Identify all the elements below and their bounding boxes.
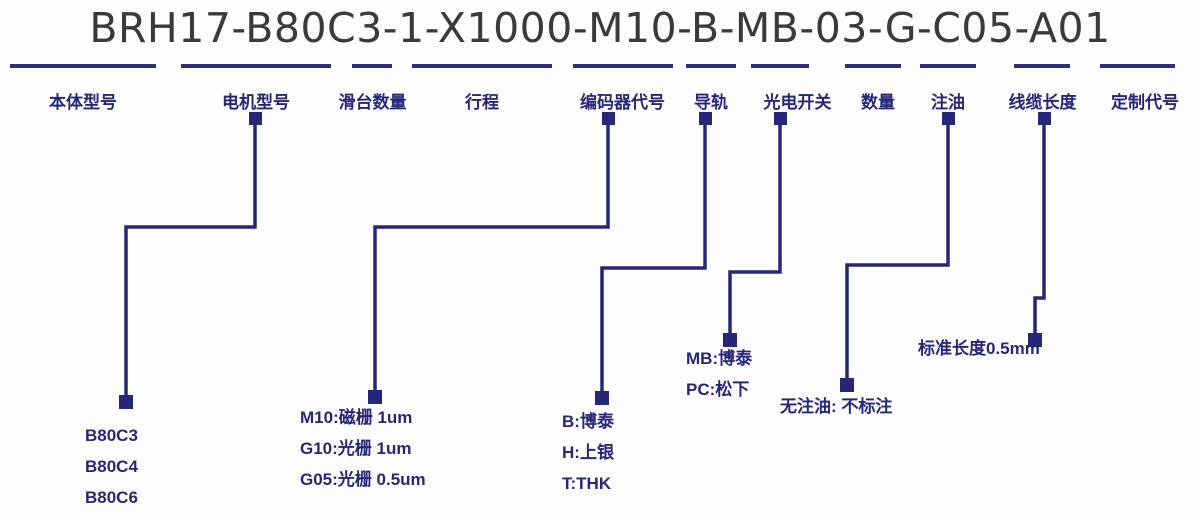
- model-number-breakdown-diagram: BRH17-B80C3-1-X1000-M10-B-MB-03-G-C05-A0…: [0, 0, 1200, 514]
- category-label-encoder-code: 编码器代号: [550, 88, 695, 113]
- value-body-model-1: B80C4: [85, 451, 138, 482]
- segment-rule-7: [751, 64, 809, 68]
- segment-rule-9: [920, 64, 976, 68]
- category-label-quantity: 数量: [843, 88, 913, 113]
- segment-rule-8: [845, 64, 901, 68]
- leader-end-marker-oiling: [840, 378, 854, 392]
- value-cable-length-0: 标准长度0.5mm: [918, 333, 1040, 364]
- leader-line-body-model: [126, 120, 255, 400]
- segment-rule-4: [412, 64, 552, 68]
- leader-start-marker-photo-switch: [774, 112, 787, 125]
- leader-start-marker-encoder-code: [602, 112, 615, 125]
- value-body-model-2: B80C6: [85, 482, 138, 513]
- value-block-guide-rail: B:博泰 H:上银 T:THK: [562, 406, 614, 499]
- value-encoder-code-2: G05:光栅 0.5um: [300, 464, 426, 495]
- leader-start-marker-guide-rail: [699, 112, 712, 125]
- segment-rule-11: [1100, 64, 1175, 68]
- value-photo-switch-1: PC:松下: [686, 374, 752, 405]
- category-label-body-model: 本体型号: [10, 88, 156, 113]
- segment-rule-10: [1014, 64, 1070, 68]
- leader-start-marker-oiling: [942, 112, 955, 125]
- value-block-oiling: 无注油: 不标注: [780, 391, 892, 422]
- leader-line-encoder-code: [375, 120, 608, 395]
- value-encoder-code-0: M10:磁栅 1um: [300, 402, 426, 433]
- value-photo-switch-0: MB:博泰: [686, 343, 752, 374]
- value-block-photo-switch: MB:博泰 PC:松下: [686, 343, 752, 405]
- segment-rule-5: [573, 64, 673, 68]
- leader-start-marker-body-model: [249, 112, 262, 125]
- category-label-slide-count: 滑台数量: [320, 88, 425, 113]
- leader-end-marker-guide-rail: [595, 391, 609, 405]
- segment-rule-3: [352, 64, 392, 68]
- value-oiling-0: 无注油: 不标注: [780, 391, 892, 422]
- category-label-motor-model: 电机型号: [181, 88, 331, 113]
- leader-end-marker-body-model: [119, 395, 133, 409]
- leader-line-cable-length: [1035, 120, 1044, 338]
- category-label-custom-code: 定制代号: [1095, 88, 1195, 113]
- value-block-encoder-code: M10:磁栅 1um G10:光栅 1um G05:光栅 0.5um: [300, 402, 426, 495]
- leader-line-photo-switch: [730, 120, 780, 338]
- segment-rule-6: [686, 64, 736, 68]
- category-label-guide-rail: 导轨: [676, 88, 746, 113]
- model-number-headline: BRH17-B80C3-1-X1000-M10-B-MB-03-G-C05-A0…: [0, 0, 1200, 56]
- value-guide-rail-0: B:博泰: [562, 406, 614, 437]
- value-block-body-model: B80C3 B80C4 B80C6: [85, 420, 138, 513]
- segment-rule-2: [181, 64, 331, 68]
- value-block-cable-length: 标准长度0.5mm: [918, 333, 1040, 364]
- category-label-cable-length: 线缆长度: [985, 88, 1100, 113]
- segment-rule-1: [10, 64, 156, 68]
- value-guide-rail-2: T:THK: [562, 468, 614, 499]
- category-label-oiling: 注油: [913, 88, 983, 113]
- leader-start-marker-cable-length: [1038, 112, 1051, 125]
- value-guide-rail-1: H:上银: [562, 437, 614, 468]
- value-body-model-0: B80C3: [85, 420, 138, 451]
- category-label-photo-switch: 光电开关: [745, 88, 850, 113]
- value-encoder-code-1: G10:光栅 1um: [300, 433, 426, 464]
- category-label-stroke: 行程: [432, 88, 532, 113]
